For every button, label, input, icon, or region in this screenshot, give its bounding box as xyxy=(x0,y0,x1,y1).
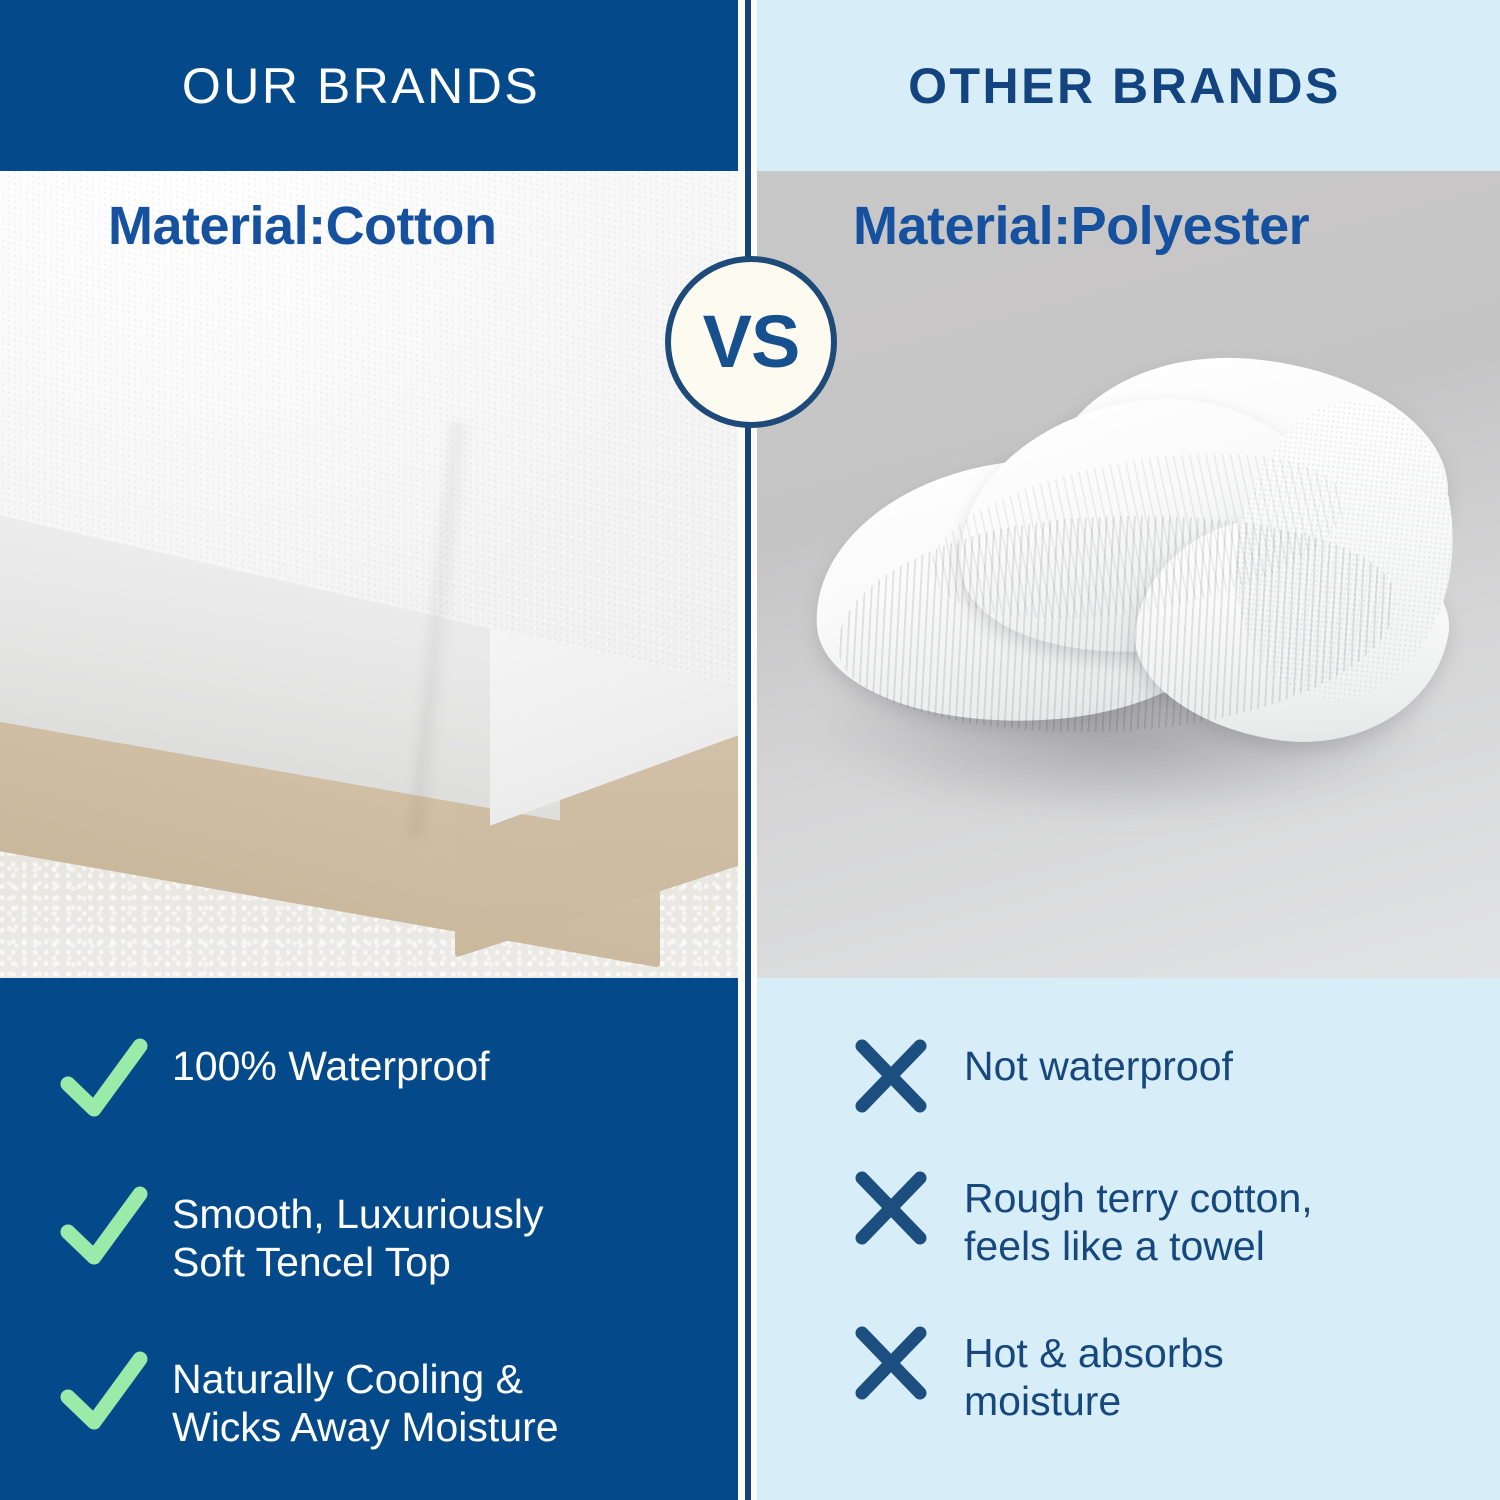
material-label-polyester: Material:Polyester xyxy=(853,199,1309,253)
feature-item: Smooth, Luxuriously Soft Tencel Top xyxy=(58,1184,698,1287)
feature-item: Hot & absorbs moisture xyxy=(852,1323,1460,1426)
our-brands-feature-list: 100% Waterproof Smooth, Luxuriously Soft… xyxy=(0,978,738,1500)
other-brands-product-photo xyxy=(757,171,1500,978)
vs-label: VS xyxy=(703,305,800,379)
feature-label: Naturally Cooling & Wicks Away Moisture xyxy=(172,1349,559,1452)
feature-item: 100% Waterproof xyxy=(58,1036,698,1122)
comparison-infographic: OUR BRANDS 100% Waterproof xyxy=(0,0,1500,1500)
feature-label: Hot & absorbs moisture xyxy=(964,1323,1224,1426)
cross-icon xyxy=(852,1323,930,1403)
check-icon xyxy=(58,1036,150,1122)
cross-icon xyxy=(852,1036,930,1116)
vs-badge: VS xyxy=(665,256,837,428)
panel-divider-line xyxy=(745,0,751,1500)
other-brands-feature-list: Not waterproof Rough terry cotton, feels… xyxy=(757,978,1500,1500)
other-brands-title: OTHER BRANDS xyxy=(908,61,1341,111)
feature-label: Not waterproof xyxy=(964,1036,1233,1090)
our-brands-header: OUR BRANDS xyxy=(0,0,738,171)
feature-label: 100% Waterproof xyxy=(172,1036,490,1090)
check-icon xyxy=(58,1184,150,1270)
feature-label: Smooth, Luxuriously Soft Tencel Top xyxy=(172,1184,543,1287)
our-brands-title: OUR BRANDS xyxy=(182,61,540,111)
folded-protector xyxy=(807,341,1447,761)
check-icon xyxy=(58,1349,150,1435)
material-label-cotton: Material:Cotton xyxy=(108,199,496,253)
feature-label: Rough terry cotton, feels like a towel xyxy=(964,1168,1313,1271)
feature-item: Naturally Cooling & Wicks Away Moisture xyxy=(58,1349,698,1452)
feature-item: Rough terry cotton, feels like a towel xyxy=(852,1168,1460,1271)
feature-item: Not waterproof xyxy=(852,1036,1460,1116)
other-brands-header: OTHER BRANDS xyxy=(757,0,1500,171)
cross-icon xyxy=(852,1168,930,1248)
our-brands-product-photo xyxy=(0,171,738,978)
